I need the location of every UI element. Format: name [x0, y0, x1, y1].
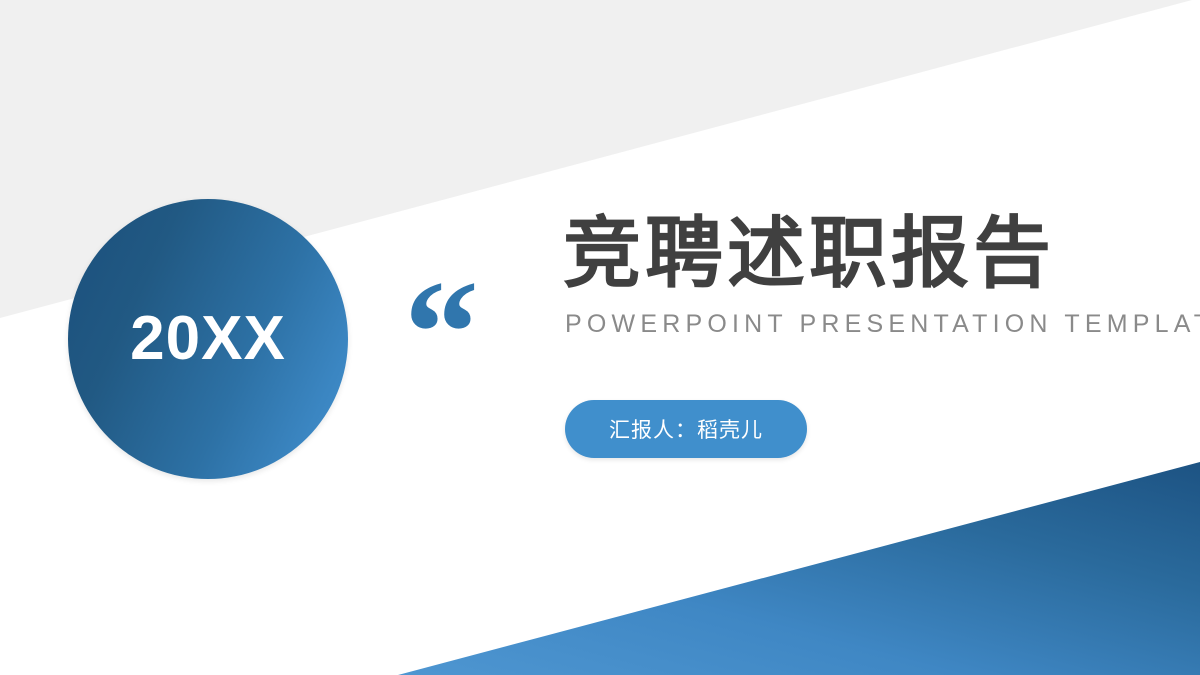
page-title: 竞聘述职报告 — [563, 214, 1123, 296]
presenter-badge: 汇报人：稻壳儿 — [565, 400, 807, 458]
corner-blue-triangle — [398, 462, 1200, 675]
page-subtitle: POWERPOINT PRESENTATION TEMPLATE — [565, 310, 1123, 339]
presenter-label: 汇报人：稻壳儿 — [609, 414, 763, 444]
quotation-mark-icon: “ — [404, 258, 534, 388]
title-block: 竞聘述职报告 POWERPOINT PRESENTATION TEMPLATE — [563, 214, 1123, 339]
year-label: 20XX — [130, 308, 286, 370]
year-circle: 20XX — [68, 199, 348, 479]
presentation-slide: 20XX “ 竞聘述职报告 POWERPOINT PRESENTATION TE… — [0, 0, 1200, 675]
